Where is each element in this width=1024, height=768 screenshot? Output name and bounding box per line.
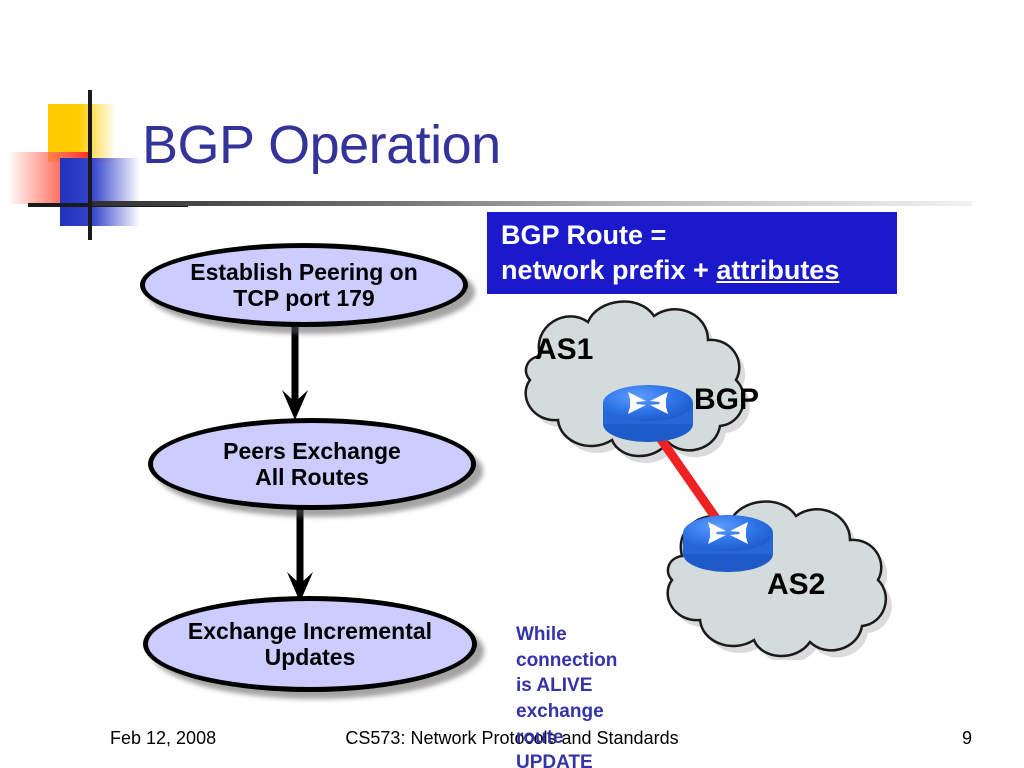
as1-router-icon[interactable] xyxy=(603,385,693,442)
bgp-route-line2-prefix: network prefix + xyxy=(501,255,716,285)
flow-node-peers-exchange-line1: Peers Exchange xyxy=(223,438,401,464)
flow-arrow-exchange-to-incremental xyxy=(285,500,315,604)
flow-node-establish-peering[interactable]: Establish Peering on TCP port 179 xyxy=(140,243,468,327)
bgp-operation-flowchart: Establish Peering on TCP port 179 Peers … xyxy=(0,0,520,768)
flow-arrow-establish-to-exchange xyxy=(280,318,310,422)
connection-alive-note: While connection is ALIVE exchange route… xyxy=(516,622,617,768)
flow-node-establish-peering-text: Establish Peering on TCP port 179 xyxy=(190,259,418,312)
bgp-route-definition-box: BGP Route = network prefix + attributes xyxy=(487,212,897,294)
bgp-link-label: BGP xyxy=(694,383,759,417)
as1-label: AS1 xyxy=(535,333,593,367)
footer-page-number: 9 xyxy=(962,728,972,749)
flow-node-peers-exchange-text: Peers Exchange All Routes xyxy=(223,438,401,491)
as2-router-icon[interactable] xyxy=(683,515,773,572)
flow-node-peers-exchange-line2: All Routes xyxy=(255,464,369,490)
connection-alive-note-line2: is ALIVE exchange xyxy=(516,673,617,724)
flow-node-incremental-text: Exchange Incremental Updates xyxy=(188,618,432,671)
bgp-route-line1: BGP Route = xyxy=(501,218,885,253)
connection-alive-note-line1: While connection xyxy=(516,622,617,673)
slide-canvas: BGP Operation Establish Peering on TCP p… xyxy=(0,0,1024,768)
as2-label: AS2 xyxy=(767,568,825,602)
bgp-route-line2: network prefix + attributes xyxy=(501,253,885,288)
connection-alive-note-line3: route UPDATE messages xyxy=(516,725,617,768)
bgp-route-attributes-underlined: attributes xyxy=(716,255,839,285)
slide-footer: Feb 12, 2008 CS573: Network Protocols an… xyxy=(0,728,1024,758)
flow-node-incremental-line2: Updates xyxy=(265,644,356,670)
flow-node-establish-peering-line1: Establish Peering on xyxy=(190,259,418,285)
flow-node-establish-peering-line2: TCP port 179 xyxy=(233,285,374,311)
flow-node-incremental-line1: Exchange Incremental xyxy=(188,618,432,644)
footer-course-title: CS573: Network Protocols and Standards xyxy=(0,728,1024,749)
flow-node-peers-exchange-all-routes[interactable]: Peers Exchange All Routes xyxy=(148,418,476,510)
flow-node-exchange-incremental-updates[interactable]: Exchange Incremental Updates xyxy=(143,596,477,692)
